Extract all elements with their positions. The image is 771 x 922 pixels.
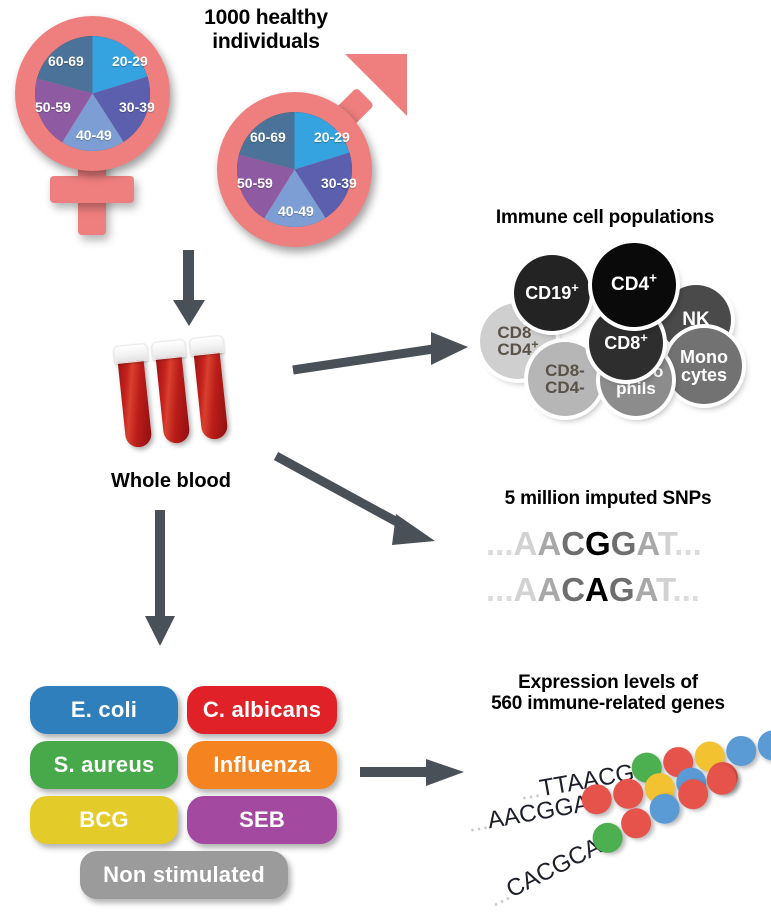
stimulus-label: BCG: [79, 807, 129, 833]
whole-blood-tubes: [112, 340, 242, 460]
immune-cell-label: CD8+CD4+: [497, 324, 538, 359]
cohort-title-line1: 1000 healthy: [168, 6, 364, 30]
blood-tube-fill: [193, 346, 228, 440]
female-age-label-60-69: 60-69: [48, 53, 84, 69]
blood-tube-lip: [189, 335, 225, 356]
female-age-label-20-29: 20-29: [112, 53, 148, 69]
immune-cell-label: CD4+: [611, 275, 657, 294]
snp-sequence-block: ...AACGGAT... ...AACAGAT...: [486, 525, 766, 615]
stimuli-grid: E. coli C. albicans S. aureus Influenza …: [30, 686, 340, 892]
expression-title-line2: 560 immune-related genes: [450, 693, 766, 714]
stimulus-label: Influenza: [213, 752, 310, 778]
female-age-label-50-59: 50-59: [35, 99, 71, 115]
immune-cell-label: Monocytes: [680, 348, 728, 385]
snp-trailing-ellipsis: ...: [672, 571, 700, 608]
stimulus-c-albicans[interactable]: C. albicans: [187, 686, 337, 734]
page-title-cohort: 1000 healthy individuals: [168, 6, 364, 53]
blood-tube-fill: [117, 354, 152, 448]
snp-leading-ellipsis: ...: [486, 571, 514, 608]
female-symbol: 20-29 30-39 40-49 50-59 60-69: [8, 8, 188, 243]
stimulus-label: SEB: [239, 807, 285, 833]
female-age-label-30-39: 30-39: [119, 99, 155, 115]
expression-strand-block: ...TTAACGG ...AACGGAT ...CACGCAA: [470, 735, 770, 915]
immune-cell-monocytes[interactable]: Monocytes: [666, 328, 742, 404]
stimulus-s-aureus[interactable]: S. aureus: [30, 741, 178, 789]
stimulus-label: C. albicans: [203, 697, 321, 723]
male-age-label-60-69: 60-69: [250, 129, 286, 145]
arrow-blood-to-stimuli: [138, 510, 182, 650]
stimulus-seb[interactable]: SEB: [187, 796, 337, 844]
snp-sequence-row: ...AACGGAT...: [486, 525, 702, 563]
immune-cell-label: CD8+: [604, 334, 648, 352]
male-age-label-20-29: 20-29: [314, 129, 350, 145]
arrow-stimuli-to-expression: [360, 755, 470, 795]
male-symbol: 20-29 30-39 40-49 50-59 60-69: [203, 52, 413, 252]
snp-trailing-ellipsis: ...: [674, 525, 702, 562]
immune-cell-label: CD19+: [525, 284, 579, 302]
arrow-blood-to-snps: [272, 450, 462, 560]
male-age-label-40-49: 40-49: [278, 203, 314, 219]
male-age-label-30-39: 30-39: [321, 175, 357, 191]
section-title-immune-cells: Immune cell populations: [440, 207, 770, 228]
immune-cell-cd4p[interactable]: CD4+: [592, 243, 676, 327]
immune-cell-cluster: CD8+CD4+ CD19+ CD4+ CD8+ NK CD8-CD4- Neu…: [468, 243, 768, 418]
section-title-expression: Expression levels of 560 immune-related …: [450, 672, 766, 715]
blood-tube-lip: [113, 343, 149, 364]
blood-tube-lip: [151, 339, 187, 360]
arrow-blood-to-immune: [290, 330, 480, 390]
arrow-cohort-to-blood: [170, 250, 210, 330]
immune-cell-label: CD8-CD4-: [545, 362, 585, 397]
immune-cell-cd19p[interactable]: CD19+: [514, 255, 590, 331]
stimulus-label: S. aureus: [54, 752, 155, 778]
cohort-title-line2: individuals: [168, 30, 364, 54]
blood-tube-fill: [155, 350, 190, 444]
whole-blood-label: Whole blood: [86, 470, 256, 493]
stimulus-bcg[interactable]: BCG: [30, 796, 178, 844]
snp-sequence-row: ...AACAGAT...: [486, 571, 700, 609]
stimulus-label: E. coli: [71, 697, 137, 723]
immune-cell-label: NK: [682, 310, 709, 329]
snp-variant-base: A: [585, 571, 609, 608]
section-title-snps: 5 million imputed SNPs: [450, 488, 766, 509]
expression-bead: [755, 728, 771, 763]
expression-title-line1: Expression levels of: [450, 672, 766, 693]
female-age-label-40-49: 40-49: [76, 127, 112, 143]
male-age-label-50-59: 50-59: [237, 175, 273, 191]
stimulus-e-coli[interactable]: E. coli: [30, 686, 178, 734]
female-cross-bar: [50, 176, 134, 203]
stimulus-non-stimulated[interactable]: Non stimulated: [80, 851, 288, 899]
snp-variant-base: G: [585, 525, 611, 562]
snp-leading-ellipsis: ...: [486, 525, 514, 562]
stimulus-label: Non stimulated: [103, 862, 265, 888]
stimulus-influenza[interactable]: Influenza: [187, 741, 337, 789]
